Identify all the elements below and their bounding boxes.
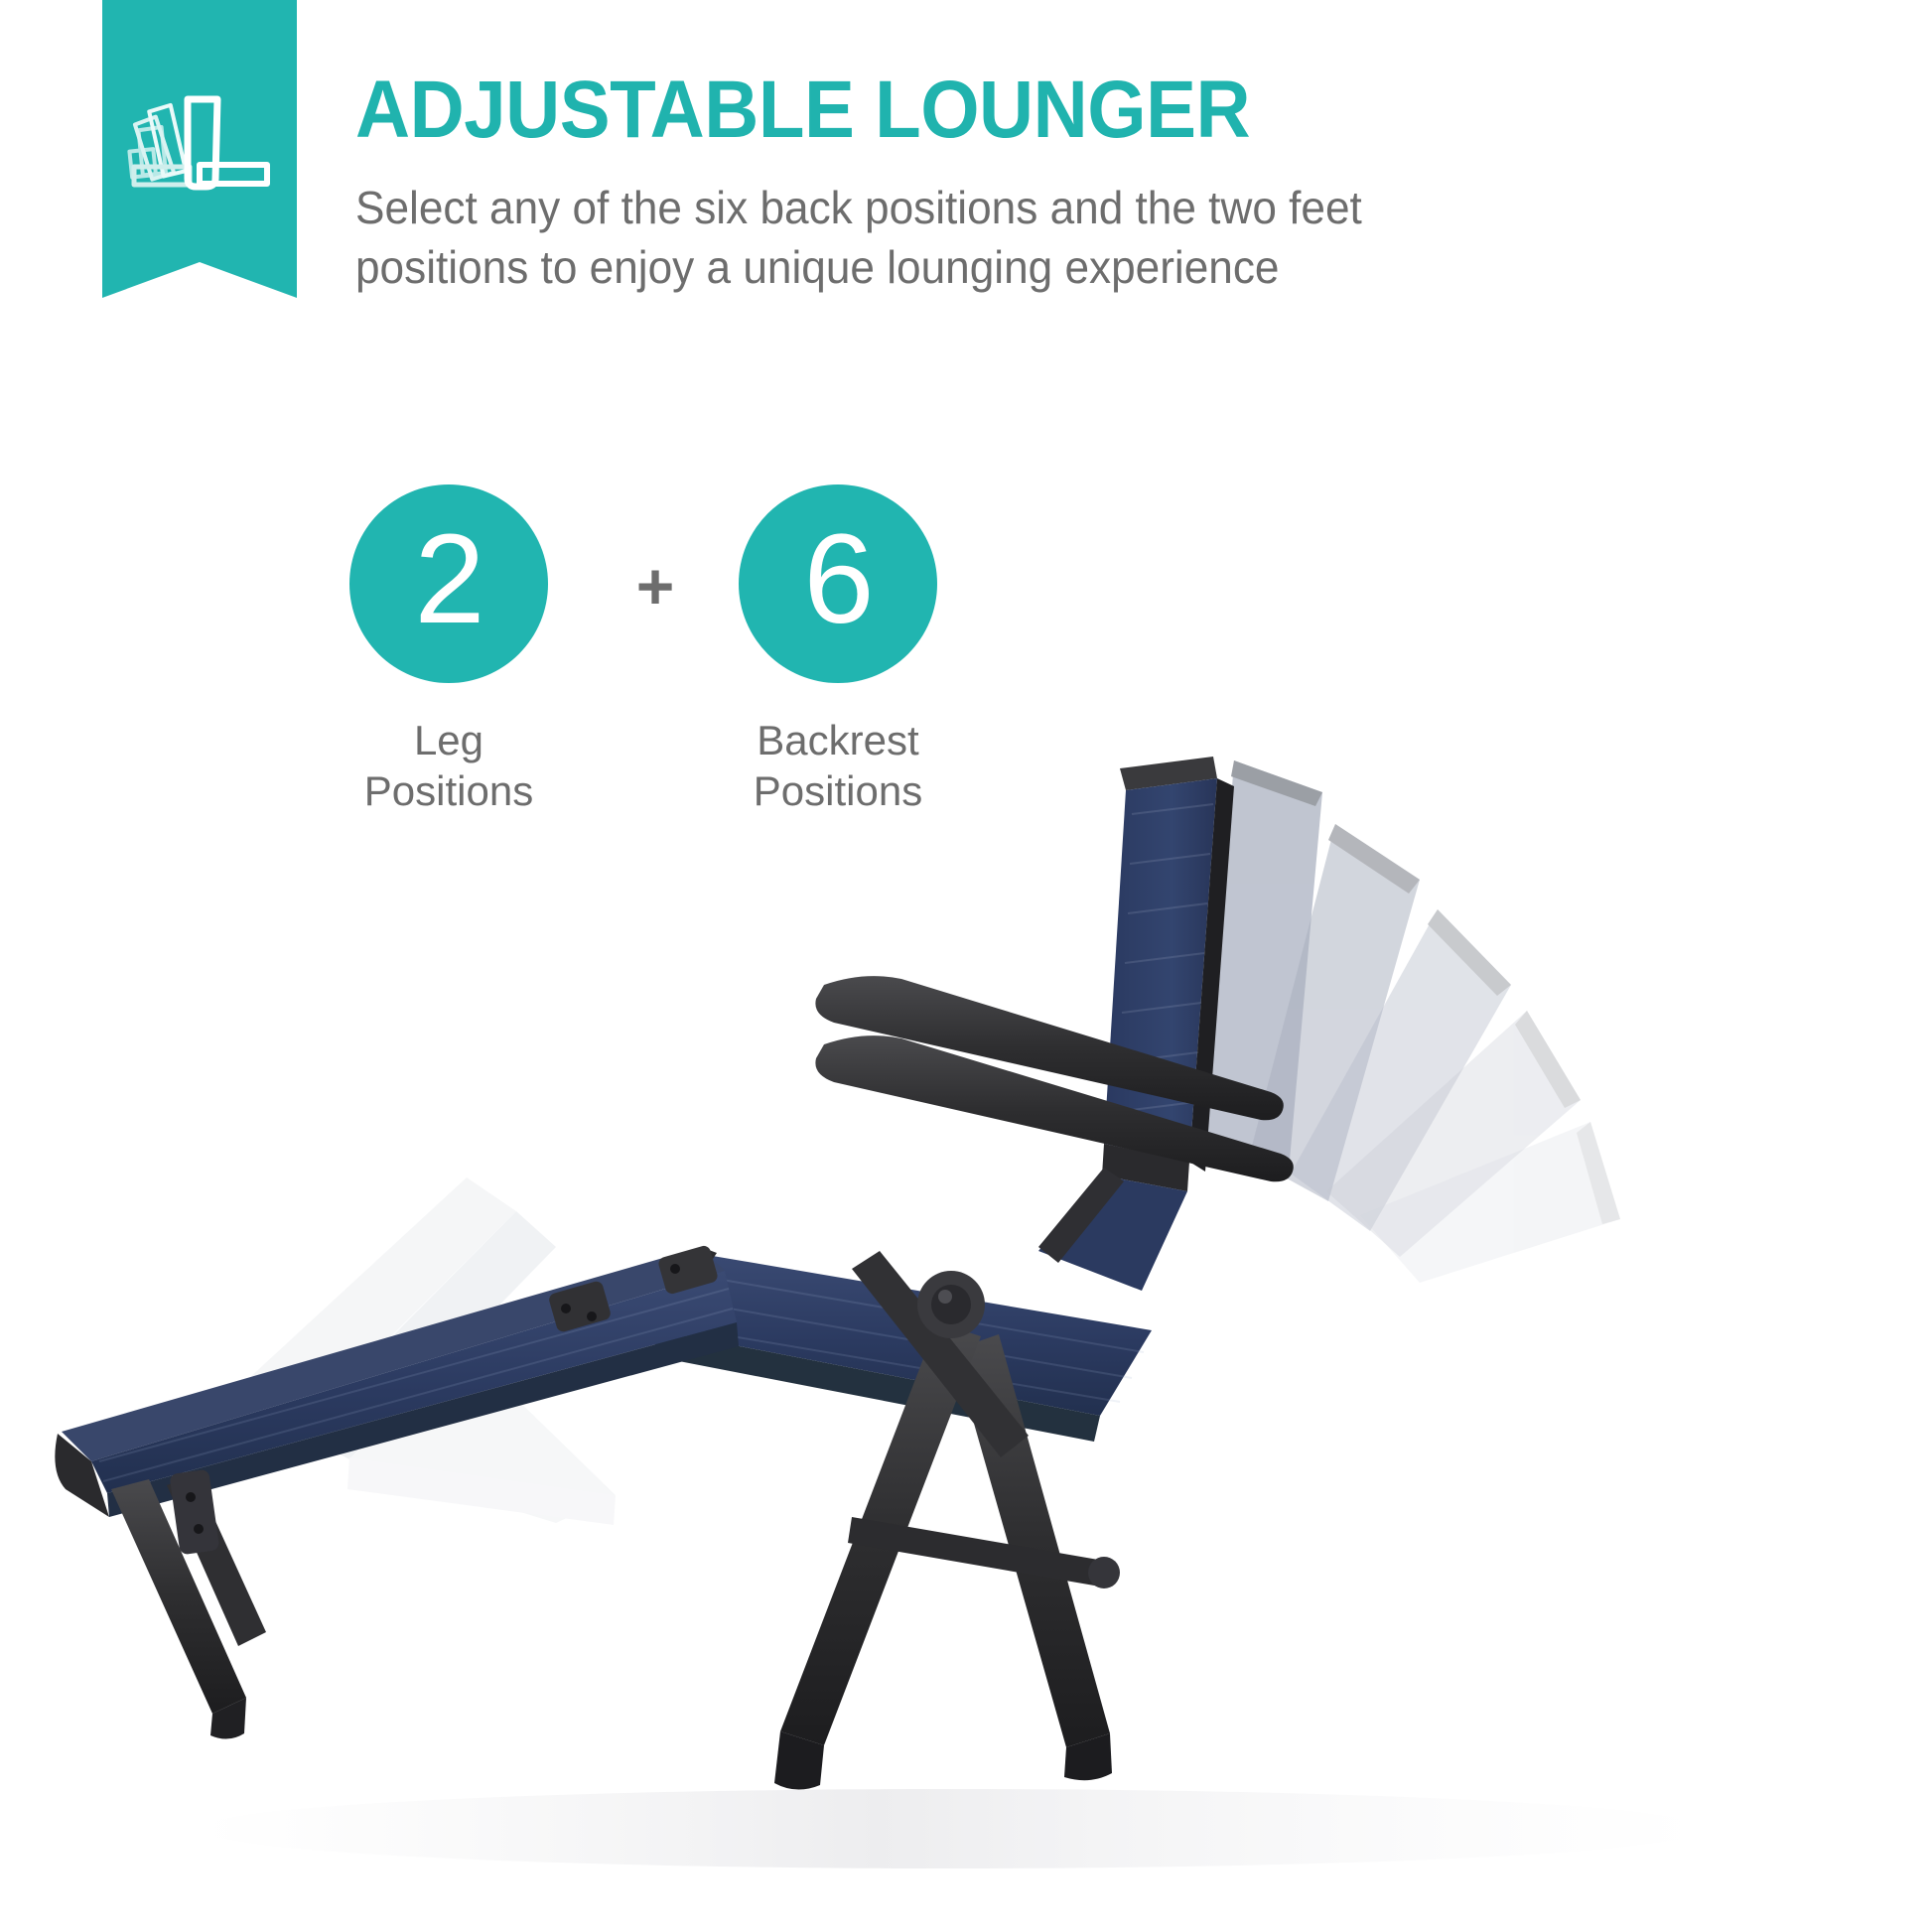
accent-banner bbox=[102, 0, 297, 298]
badge-value-leg: 2 bbox=[414, 516, 483, 651]
ghost-backrest-positions bbox=[1205, 760, 1620, 1283]
pivot-hub bbox=[917, 1271, 985, 1338]
badge-value-backrest: 6 bbox=[803, 516, 872, 651]
page-title: ADJUSTABLE LOUNGER bbox=[355, 69, 1740, 151]
adjustable-fan-positions-icon bbox=[126, 87, 275, 197]
infographic-canvas: ADJUSTABLE LOUNGER Select any of the six… bbox=[0, 0, 1932, 1932]
brace-joint bbox=[1088, 1557, 1120, 1588]
legrest-support-leg bbox=[111, 1469, 266, 1739]
page-subtitle: Select any of the six back positions and… bbox=[355, 179, 1785, 298]
subtitle-line-1: Select any of the six back positions and… bbox=[355, 179, 1785, 238]
floor-shadow bbox=[199, 1789, 1708, 1868]
badge-separator-plus: + bbox=[625, 556, 685, 616]
badge-circle-backrest: 6 bbox=[739, 484, 937, 683]
badge-circle-leg: 2 bbox=[349, 484, 548, 683]
lounger-illustration bbox=[0, 695, 1932, 1932]
product-photo bbox=[0, 695, 1932, 1932]
header-block: ADJUSTABLE LOUNGER Select any of the six… bbox=[355, 69, 1845, 298]
subtitle-line-2: positions to enjoy a unique lounging exp… bbox=[355, 238, 1785, 298]
